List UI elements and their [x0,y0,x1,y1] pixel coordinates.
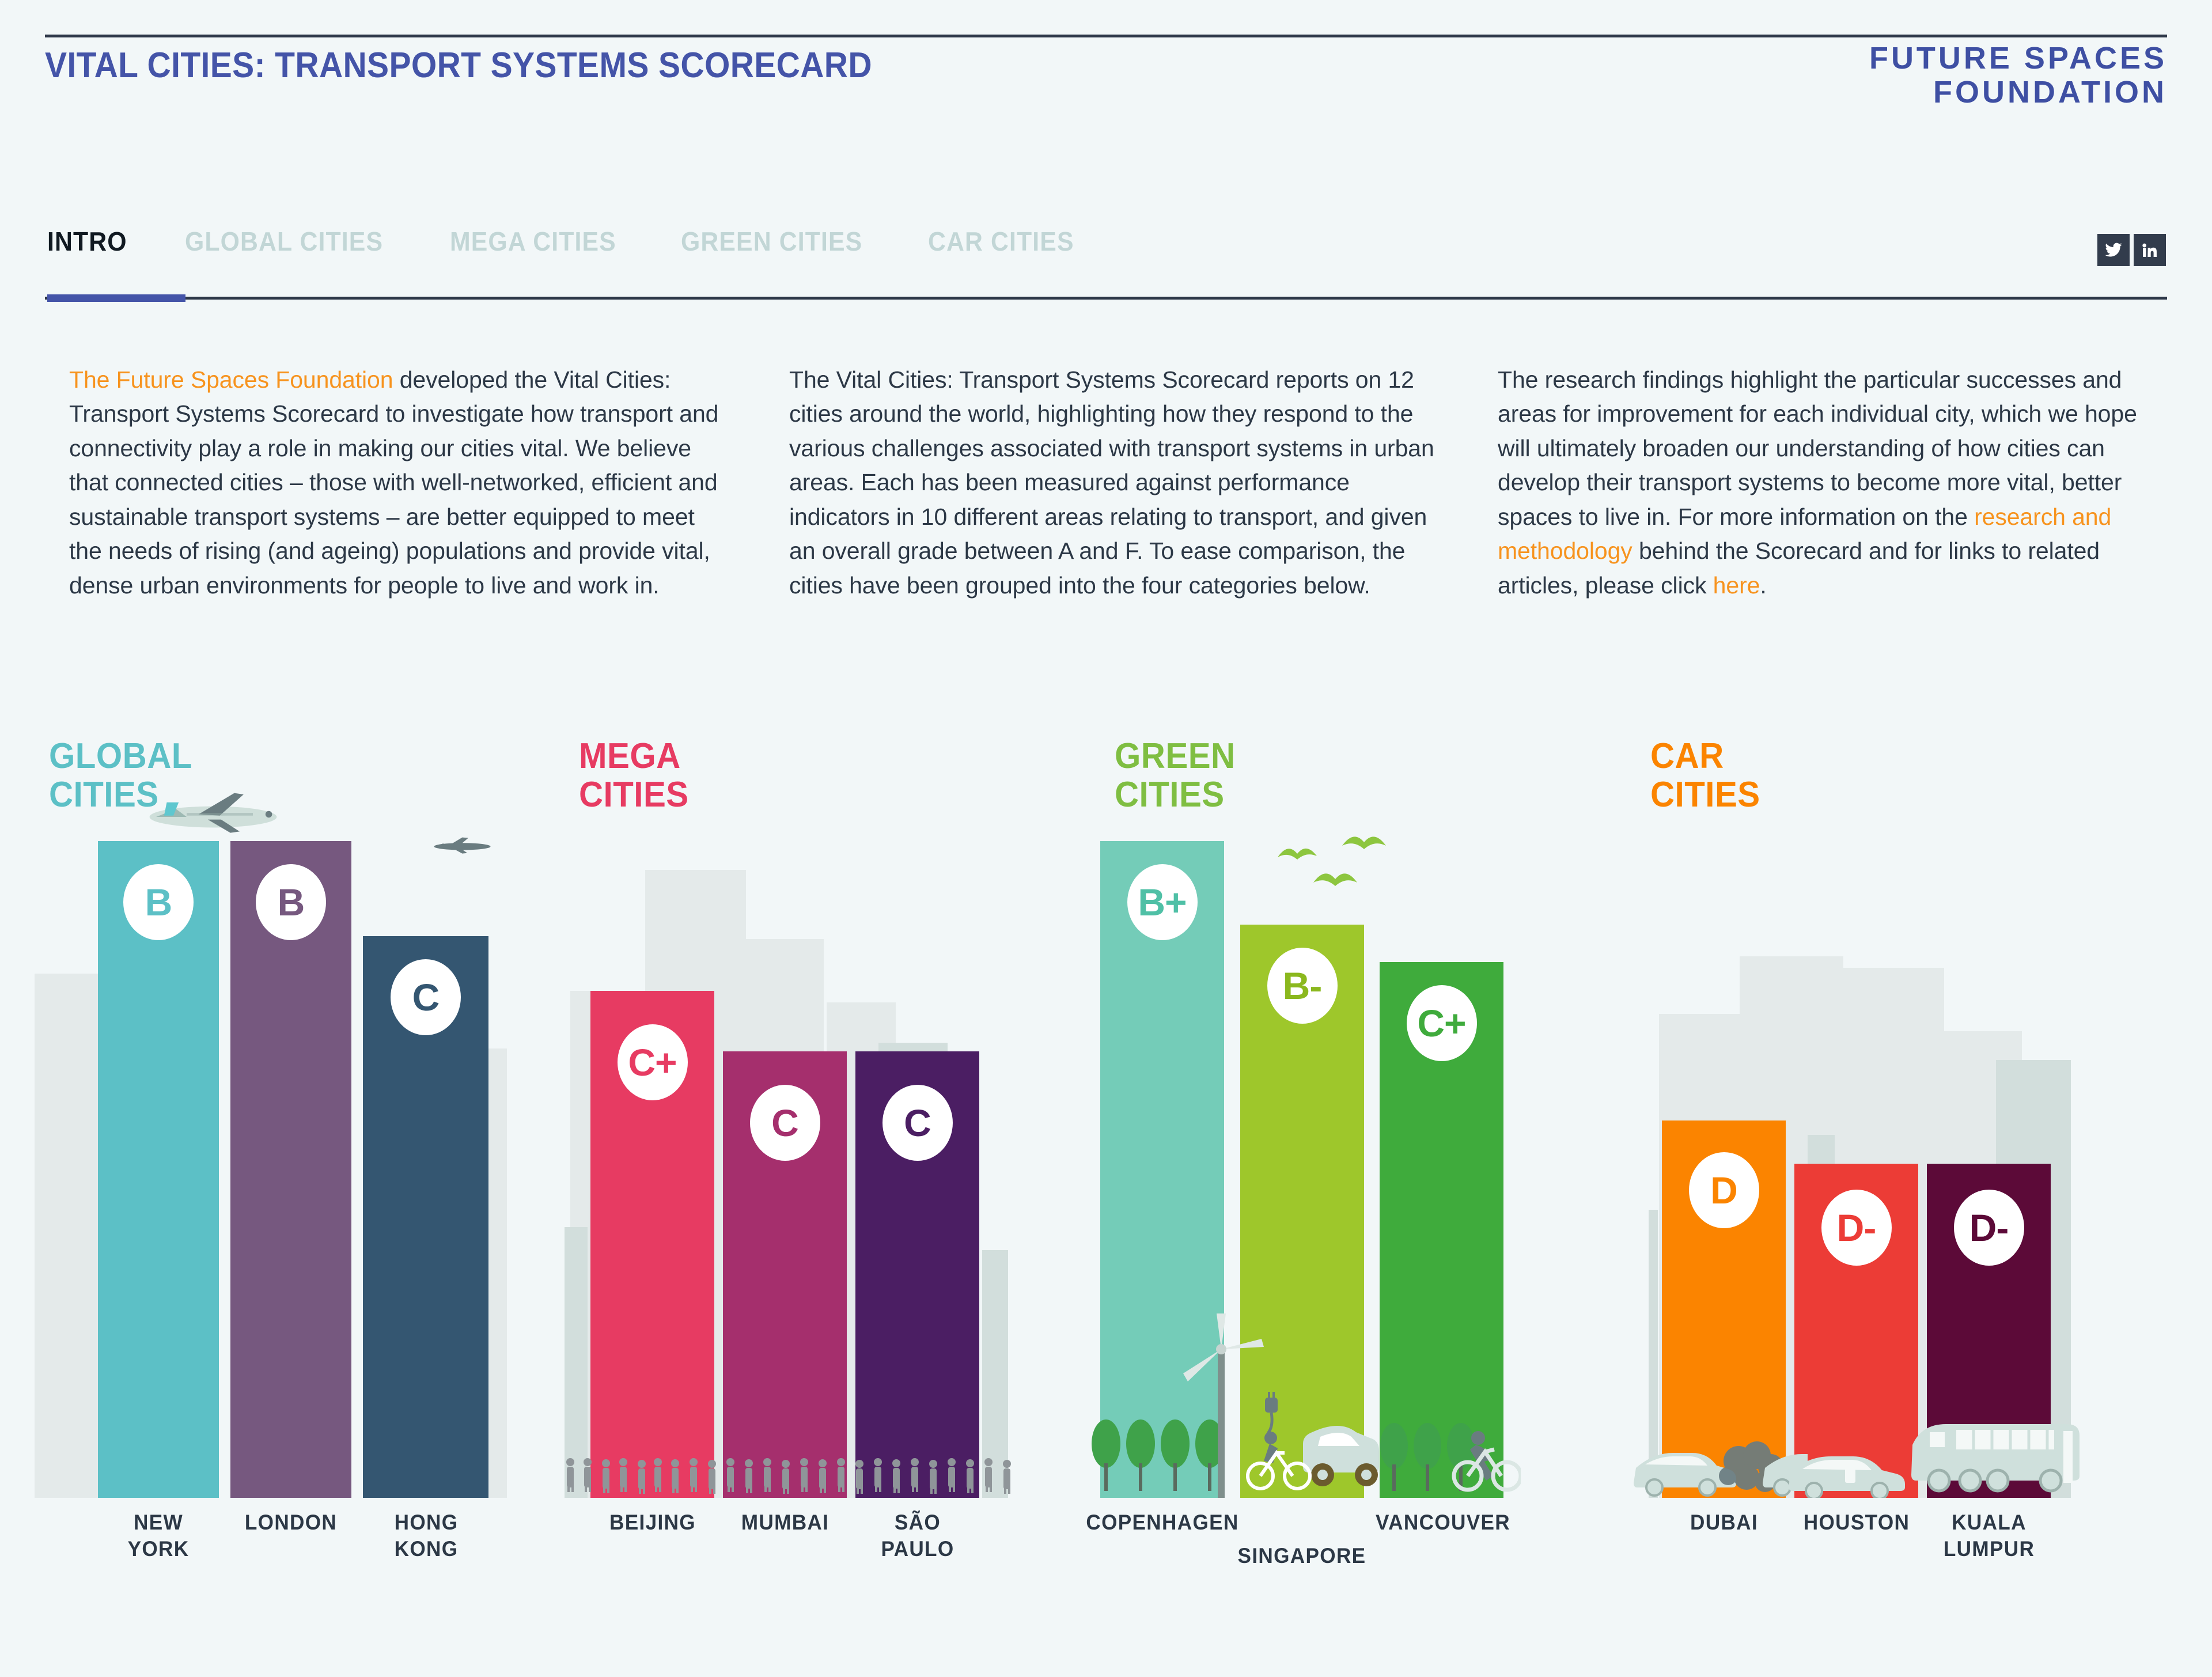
bar-beijing[interactable]: C+ [590,991,714,1498]
category-charts: GLOBAL CITIES [0,726,2212,1677]
brand-logo: FUTURE SPACES FOUNDATION [1869,41,2167,110]
x-label-new-york: NEW YORK [93,1509,224,1563]
tab-car-cities[interactable]: CAR CITIES [928,226,1122,257]
main-nav: INTRO GLOBAL CITIES MEGA CITIES GREEN CI… [0,190,2212,300]
x-axis-labels-car: DUBAI HOUSTON KUALA LUMPUR [1636,1509,2189,1625]
bar-houston[interactable]: D- [1794,1164,1918,1498]
page-header: VITAL CITIES: TRANSPORT SYSTEMS SCORECAR… [0,0,2212,190]
brand-line-2: FOUNDATION [1869,75,2167,109]
grade-badge-mumbai: C [750,1085,820,1161]
grade-badge-houston: D- [1821,1190,1892,1266]
x-axis-labels-global: NEW YORK LONDON HONG KONG [35,1509,588,1625]
chart-global-cities: GLOBAL CITIES [35,726,588,1677]
nav-item-list: INTRO GLOBAL CITIES MEGA CITIES GREEN CI… [47,226,1137,257]
grade-badge-kuala-lumpur: D- [1954,1190,2024,1266]
here-link[interactable]: here [1713,572,1760,599]
chart-green-cities: GREEN CITIES B+ B- [1100,726,1653,1677]
airplane-small-icon [432,830,493,858]
linkedin-button[interactable] [2134,234,2166,266]
building-silhouette [982,1250,1008,1498]
x-label-vancouver: VANCOUVER [1363,1509,1522,1536]
grade-badge-sao-paulo: C [882,1085,953,1161]
chart-car-cities: CAR CITIES D D- D- [1636,726,2189,1677]
bar-london[interactable]: B [230,841,351,1498]
linkedin-icon [2141,241,2159,259]
x-label-kuala-lumpur: KUALA LUMPUR [1923,1509,2055,1563]
x-label-dubai: DUBAI [1658,1509,1790,1536]
intro-col3-part3: . [1760,572,1766,599]
intro-col1-text: developed the Vital Cities: Transport Sy… [69,366,718,599]
x-label-hong-kong: HONG KONG [361,1509,492,1563]
x-axis-labels-mega: BEIJING MUMBAI SÃO PAULO [565,1509,1118,1625]
x-label-mumbai: MUMBAI [719,1509,851,1536]
birds-icon [1273,830,1417,904]
plot-area-mega: C+ C C [565,841,1118,1498]
chart-title-global: GLOBAL CITIES [49,737,192,815]
plot-area-car: D D- D- [1636,841,2189,1498]
x-label-houston: HOUSTON [1791,1509,1922,1536]
intro-col2-text: The Vital Cities: Transport Systems Scor… [789,366,1434,599]
bar-sao-paulo[interactable]: C [855,1051,979,1498]
x-label-singapore: SINGAPORE [1222,1543,1381,1569]
building-silhouette [1649,1210,1658,1498]
tab-green-cities[interactable]: GREEN CITIES [681,226,911,257]
bar-singapore[interactable]: B- [1240,925,1364,1498]
foundation-link[interactable]: The Future Spaces Foundation [69,366,393,393]
bar-hong-kong[interactable]: C [363,936,488,1498]
bar-vancouver[interactable]: C+ [1380,962,1503,1498]
bar-copenhagen[interactable]: B+ [1100,841,1224,1498]
x-label-london: LONDON [225,1509,357,1536]
grade-badge-dubai: D [1689,1152,1759,1228]
grade-badge-beijing: C+ [618,1024,688,1100]
chart-title-green: GREEN CITIES [1115,737,1236,815]
intro-column-3: The research findings highlight the part… [1498,363,2154,603]
tab-global-cities[interactable]: GLOBAL CITIES [185,226,431,257]
grade-badge-london: B [256,864,326,940]
scorecard-page: VITAL CITIES: TRANSPORT SYSTEMS SCORECAR… [0,0,2212,1677]
plot-area-global: B B C [35,841,588,1498]
bar-kuala-lumpur[interactable]: D- [1927,1164,2051,1498]
header-divider [45,35,2167,37]
grade-badge-vancouver: C+ [1407,985,1477,1061]
building-silhouette [565,1227,588,1498]
social-links [2097,234,2166,266]
nav-divider [45,297,2167,300]
page-title: VITAL CITIES: TRANSPORT SYSTEMS SCORECAR… [45,45,872,86]
bar-new-york[interactable]: B [98,841,219,1498]
plot-area-green: B+ B- C+ [1100,841,1653,1498]
grade-badge-hong-kong: C [391,959,461,1035]
bar-mumbai[interactable]: C [723,1051,847,1498]
grade-badge-new-york: B [123,864,194,940]
twitter-button[interactable] [2097,234,2130,266]
intro-column-1: The Future Spaces Foundation developed t… [69,363,726,603]
intro-column-2: The Vital Cities: Transport Systems Scor… [789,363,1446,603]
brand-line-1: FUTURE SPACES [1869,41,2167,75]
tab-intro[interactable]: INTRO [47,226,175,257]
x-axis-labels-green: COPENHAGEN SINGAPORE VANCOUVER [1100,1509,1653,1625]
bar-dubai[interactable]: D [1662,1120,1786,1498]
x-label-beijing: BEIJING [587,1509,718,1536]
tab-mega-cities[interactable]: MEGA CITIES [450,226,664,257]
grade-badge-copenhagen: B+ [1127,864,1198,940]
active-tab-underline [47,294,185,302]
chart-mega-cities: MEGA CITIES C+ C C [565,726,1118,1677]
grade-badge-singapore: B- [1267,948,1338,1024]
chart-title-car: CAR CITIES [1650,737,1760,815]
twitter-icon [2104,241,2123,259]
x-label-sao-paulo: SÃO PAULO [852,1509,983,1563]
chart-title-mega: MEGA CITIES [579,737,689,815]
x-label-copenhagen: COPENHAGEN [1081,1509,1245,1536]
